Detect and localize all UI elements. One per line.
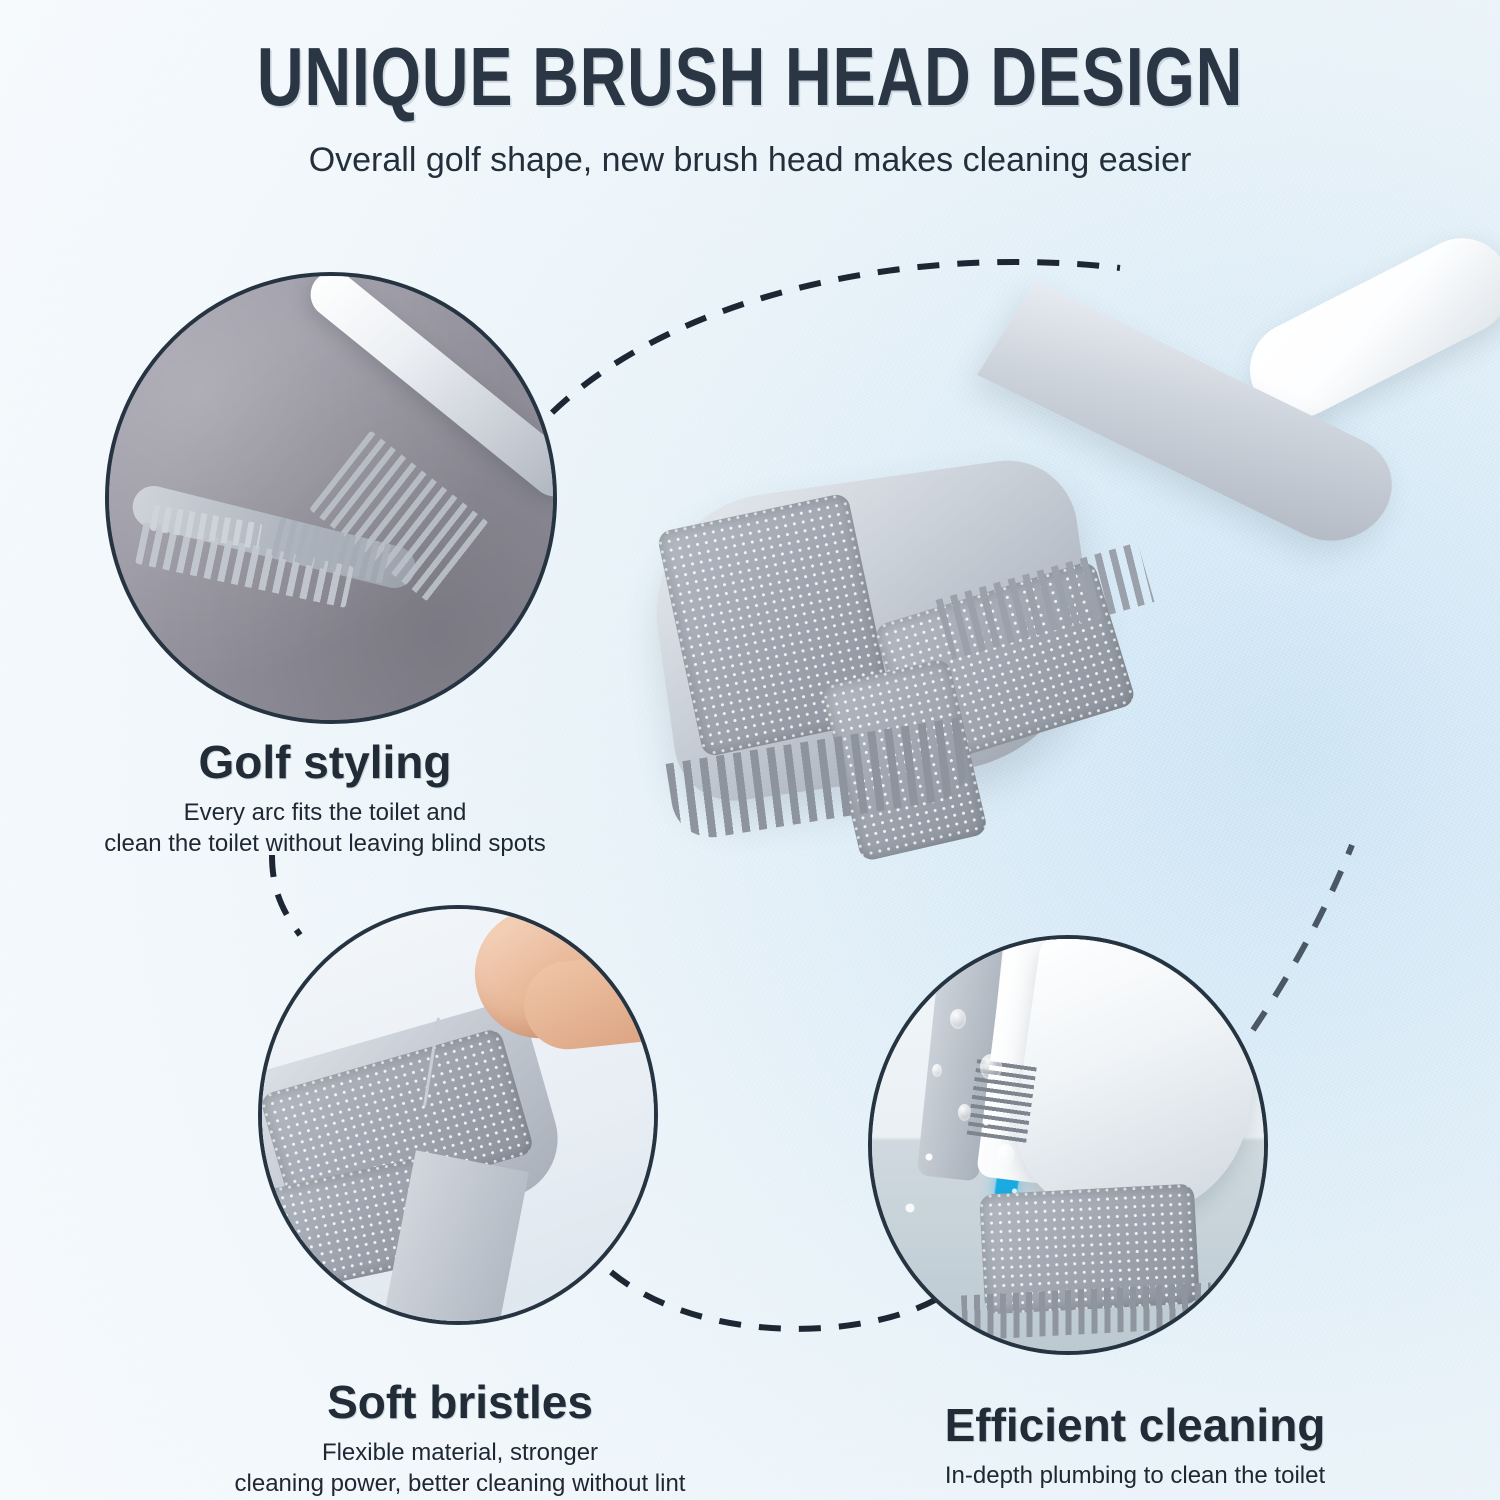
product-hero-image [640, 270, 1500, 890]
caption-title: Golf styling [45, 735, 605, 789]
caption-golf-styling: Golf styling Every arc fits the toilet a… [45, 735, 605, 859]
water-droplet [932, 1064, 942, 1077]
golf-styling-photo [105, 272, 557, 724]
caption-line-1: Every arc fits the toilet and [184, 799, 467, 826]
caption-line-1: In-depth plumbing to clean the toilet [945, 1462, 1325, 1489]
caption-line-2: cleaning power, better cleaning without … [235, 1470, 686, 1497]
golf-photo-inner [109, 276, 553, 720]
caption-description: In-depth plumbing to clean the toilet [855, 1452, 1415, 1492]
efficient-cleaning-photo [868, 935, 1268, 1355]
soft-photo-inner [262, 909, 654, 1321]
page-title: UNIQUE BRUSH HEAD DESIGN [165, 0, 1335, 117]
water-droplet [958, 1104, 971, 1121]
caption-description: Every arc fits the toilet and clean the … [45, 789, 605, 859]
caption-line-2: clean the toilet without leaving blind s… [104, 830, 546, 857]
water-droplet [997, 1144, 1014, 1165]
page-subtitle: Overall golf shape, new brush head makes… [0, 117, 1500, 180]
infographic-canvas: UNIQUE BRUSH HEAD DESIGN Overall golf sh… [0, 0, 1500, 1500]
soft-bristles-photo [258, 905, 658, 1325]
caption-efficient-cleaning: Efficient cleaning In-depth plumbing to … [855, 1398, 1415, 1492]
caption-line-1: Flexible material, stronger [322, 1439, 598, 1466]
caption-description: Flexible material, stronger cleaning pow… [180, 1429, 740, 1499]
caption-soft-bristles: Soft bristles Flexible material, stronge… [180, 1375, 740, 1499]
caption-title: Efficient cleaning [855, 1398, 1415, 1452]
header: UNIQUE BRUSH HEAD DESIGN Overall golf sh… [0, 0, 1500, 180]
water-droplet [980, 1054, 1002, 1080]
water-droplet [950, 1009, 966, 1029]
caption-title: Soft bristles [180, 1375, 740, 1429]
efficient-photo-inner [872, 939, 1264, 1351]
